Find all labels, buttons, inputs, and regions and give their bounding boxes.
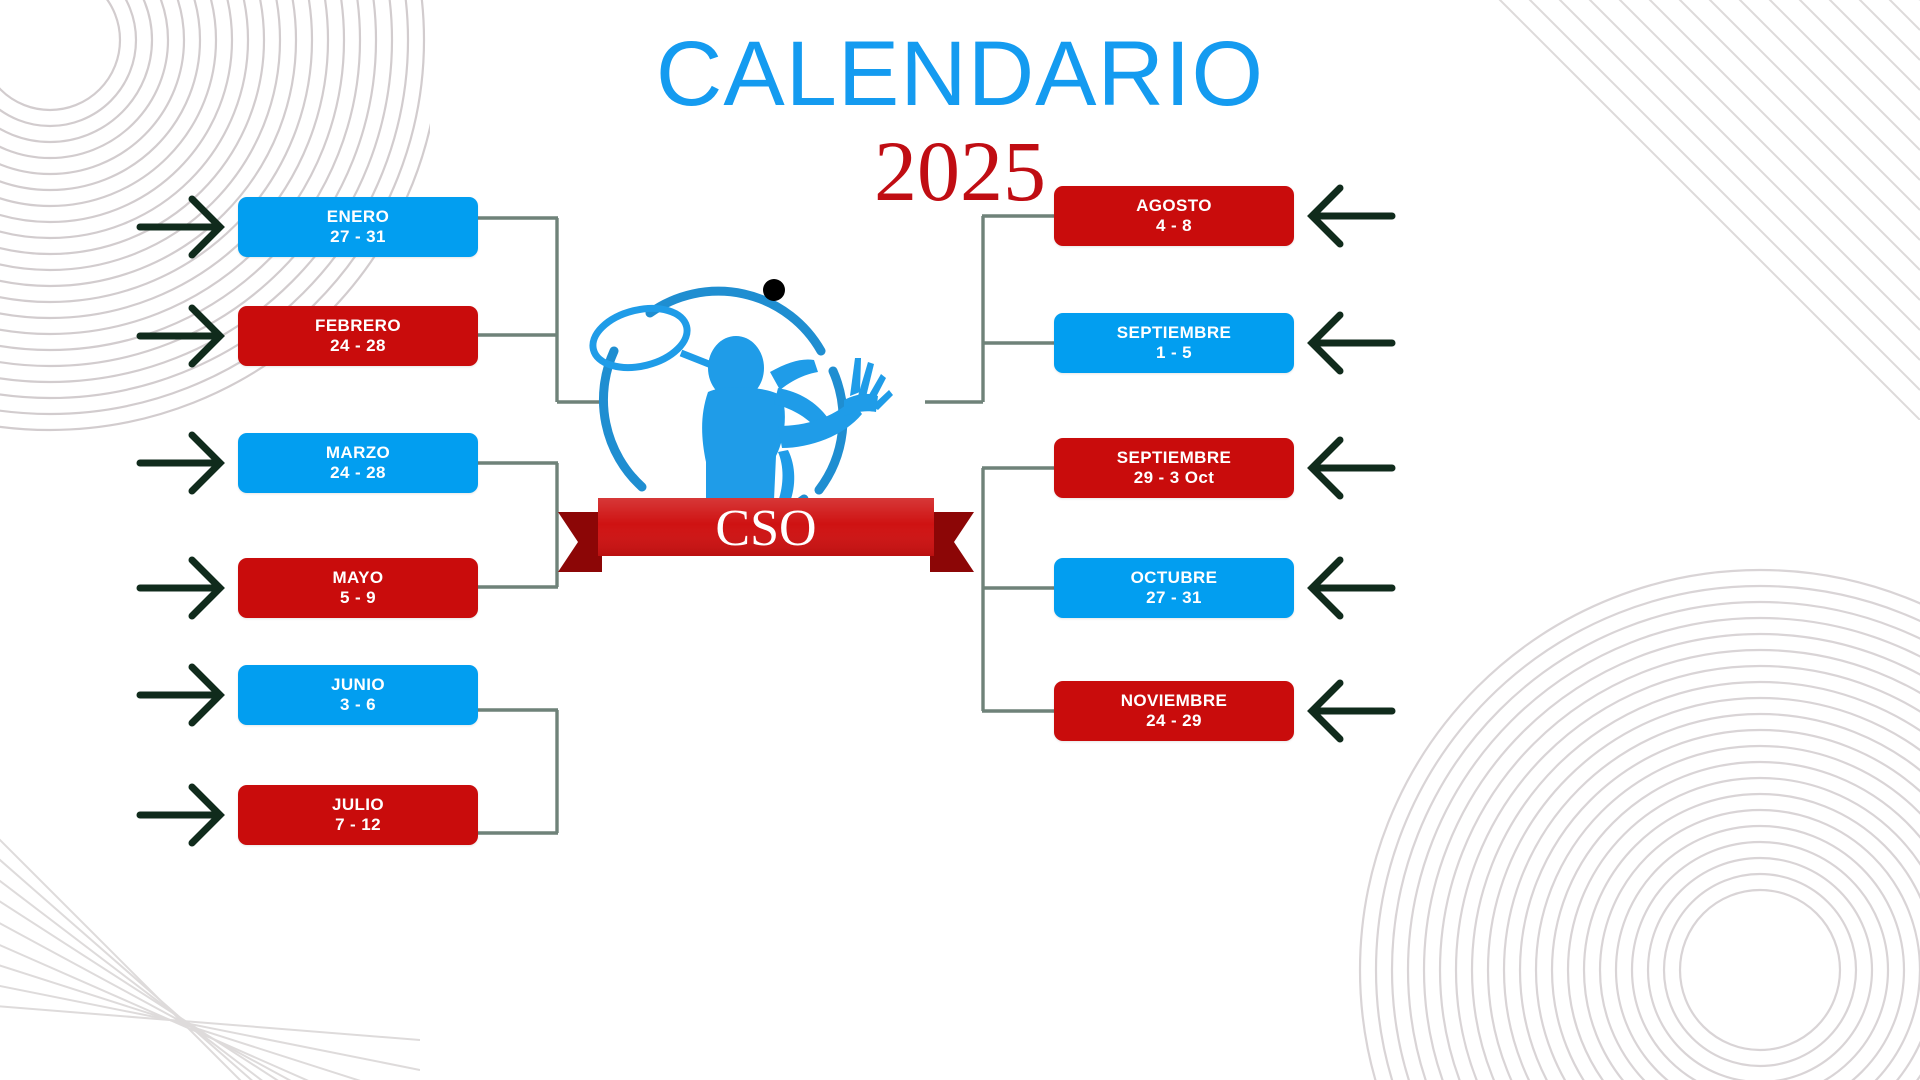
month-name: MARZO — [326, 443, 390, 463]
month-name: OCTUBRE — [1131, 568, 1218, 588]
month-name: SEPTIEMBRE — [1117, 323, 1232, 343]
ribbon-banner: CSO — [558, 498, 974, 572]
arrow-left-icon — [1306, 307, 1398, 384]
month-name: SEPTIEMBRE — [1117, 448, 1232, 468]
month-box-septiembre-3[interactable]: SEPTIEMBRE29 - 3 Oct — [1054, 438, 1294, 498]
arrow-right-icon — [134, 659, 226, 736]
month-name: NOVIEMBRE — [1121, 691, 1228, 711]
month-dates: 27 - 31 — [1146, 587, 1202, 608]
month-dates: 24 - 28 — [330, 462, 386, 483]
cso-squash-logo: CSO — [556, 250, 976, 590]
month-dates: 7 - 12 — [335, 814, 381, 835]
arrow-left-icon — [1306, 552, 1398, 624]
month-name: FEBRERO — [315, 316, 401, 336]
month-box-marzo-3[interactable]: MARZO24 - 28 — [238, 433, 478, 493]
month-box-noviembre-5[interactable]: NOVIEMBRE24 - 29 — [1054, 681, 1294, 741]
arrow-left-icon — [1306, 675, 1398, 752]
calendar-poster: CALENDARIO 2025 — [0, 0, 1920, 1080]
ribbon-label: CSO — [715, 500, 816, 557]
month-box-mayo-4[interactable]: MAYO5 - 9 — [238, 558, 478, 618]
arrow-left-icon — [1306, 552, 1398, 629]
arrow-left-icon — [1306, 432, 1398, 504]
arrow-right-icon — [134, 552, 226, 629]
month-box-junio-5[interactable]: JUNIO3 - 6 — [238, 665, 478, 725]
page-year: 2025 — [0, 126, 1920, 216]
arrow-right-icon — [134, 659, 226, 731]
month-box-julio-6[interactable]: JULIO7 - 12 — [238, 785, 478, 845]
month-dates: 24 - 28 — [330, 335, 386, 356]
month-name: JULIO — [332, 795, 384, 815]
month-dates: 27 - 31 — [330, 226, 386, 247]
arrow-right-icon — [134, 300, 226, 372]
month-dates: 5 - 9 — [340, 587, 376, 608]
arrow-right-icon — [134, 427, 226, 504]
month-box-febrero-2[interactable]: FEBRERO24 - 28 — [238, 306, 478, 366]
arrow-left-icon — [1306, 675, 1398, 747]
month-dates: 3 - 6 — [340, 694, 376, 715]
arrow-right-icon — [134, 779, 226, 856]
month-dates: 1 - 5 — [1156, 342, 1192, 363]
arrow-right-icon — [134, 427, 226, 499]
arrow-left-icon — [1306, 432, 1398, 509]
poster-title-block: CALENDARIO 2025 — [0, 28, 1920, 216]
arrow-right-icon — [134, 300, 226, 377]
arrow-left-icon — [1306, 307, 1398, 379]
month-dates: 4 - 8 — [1156, 215, 1192, 236]
month-name: JUNIO — [331, 675, 385, 695]
month-name: MAYO — [332, 568, 383, 588]
arrow-right-icon — [134, 779, 226, 851]
arrow-right-icon — [134, 552, 226, 624]
month-dates: 24 - 29 — [1146, 710, 1202, 731]
ball-icon — [763, 279, 785, 301]
month-dates: 29 - 3 Oct — [1134, 467, 1215, 488]
month-box-septiembre-2[interactable]: SEPTIEMBRE1 - 5 — [1054, 313, 1294, 373]
month-box-octubre-4[interactable]: OCTUBRE27 - 31 — [1054, 558, 1294, 618]
page-title: CALENDARIO — [0, 28, 1920, 122]
